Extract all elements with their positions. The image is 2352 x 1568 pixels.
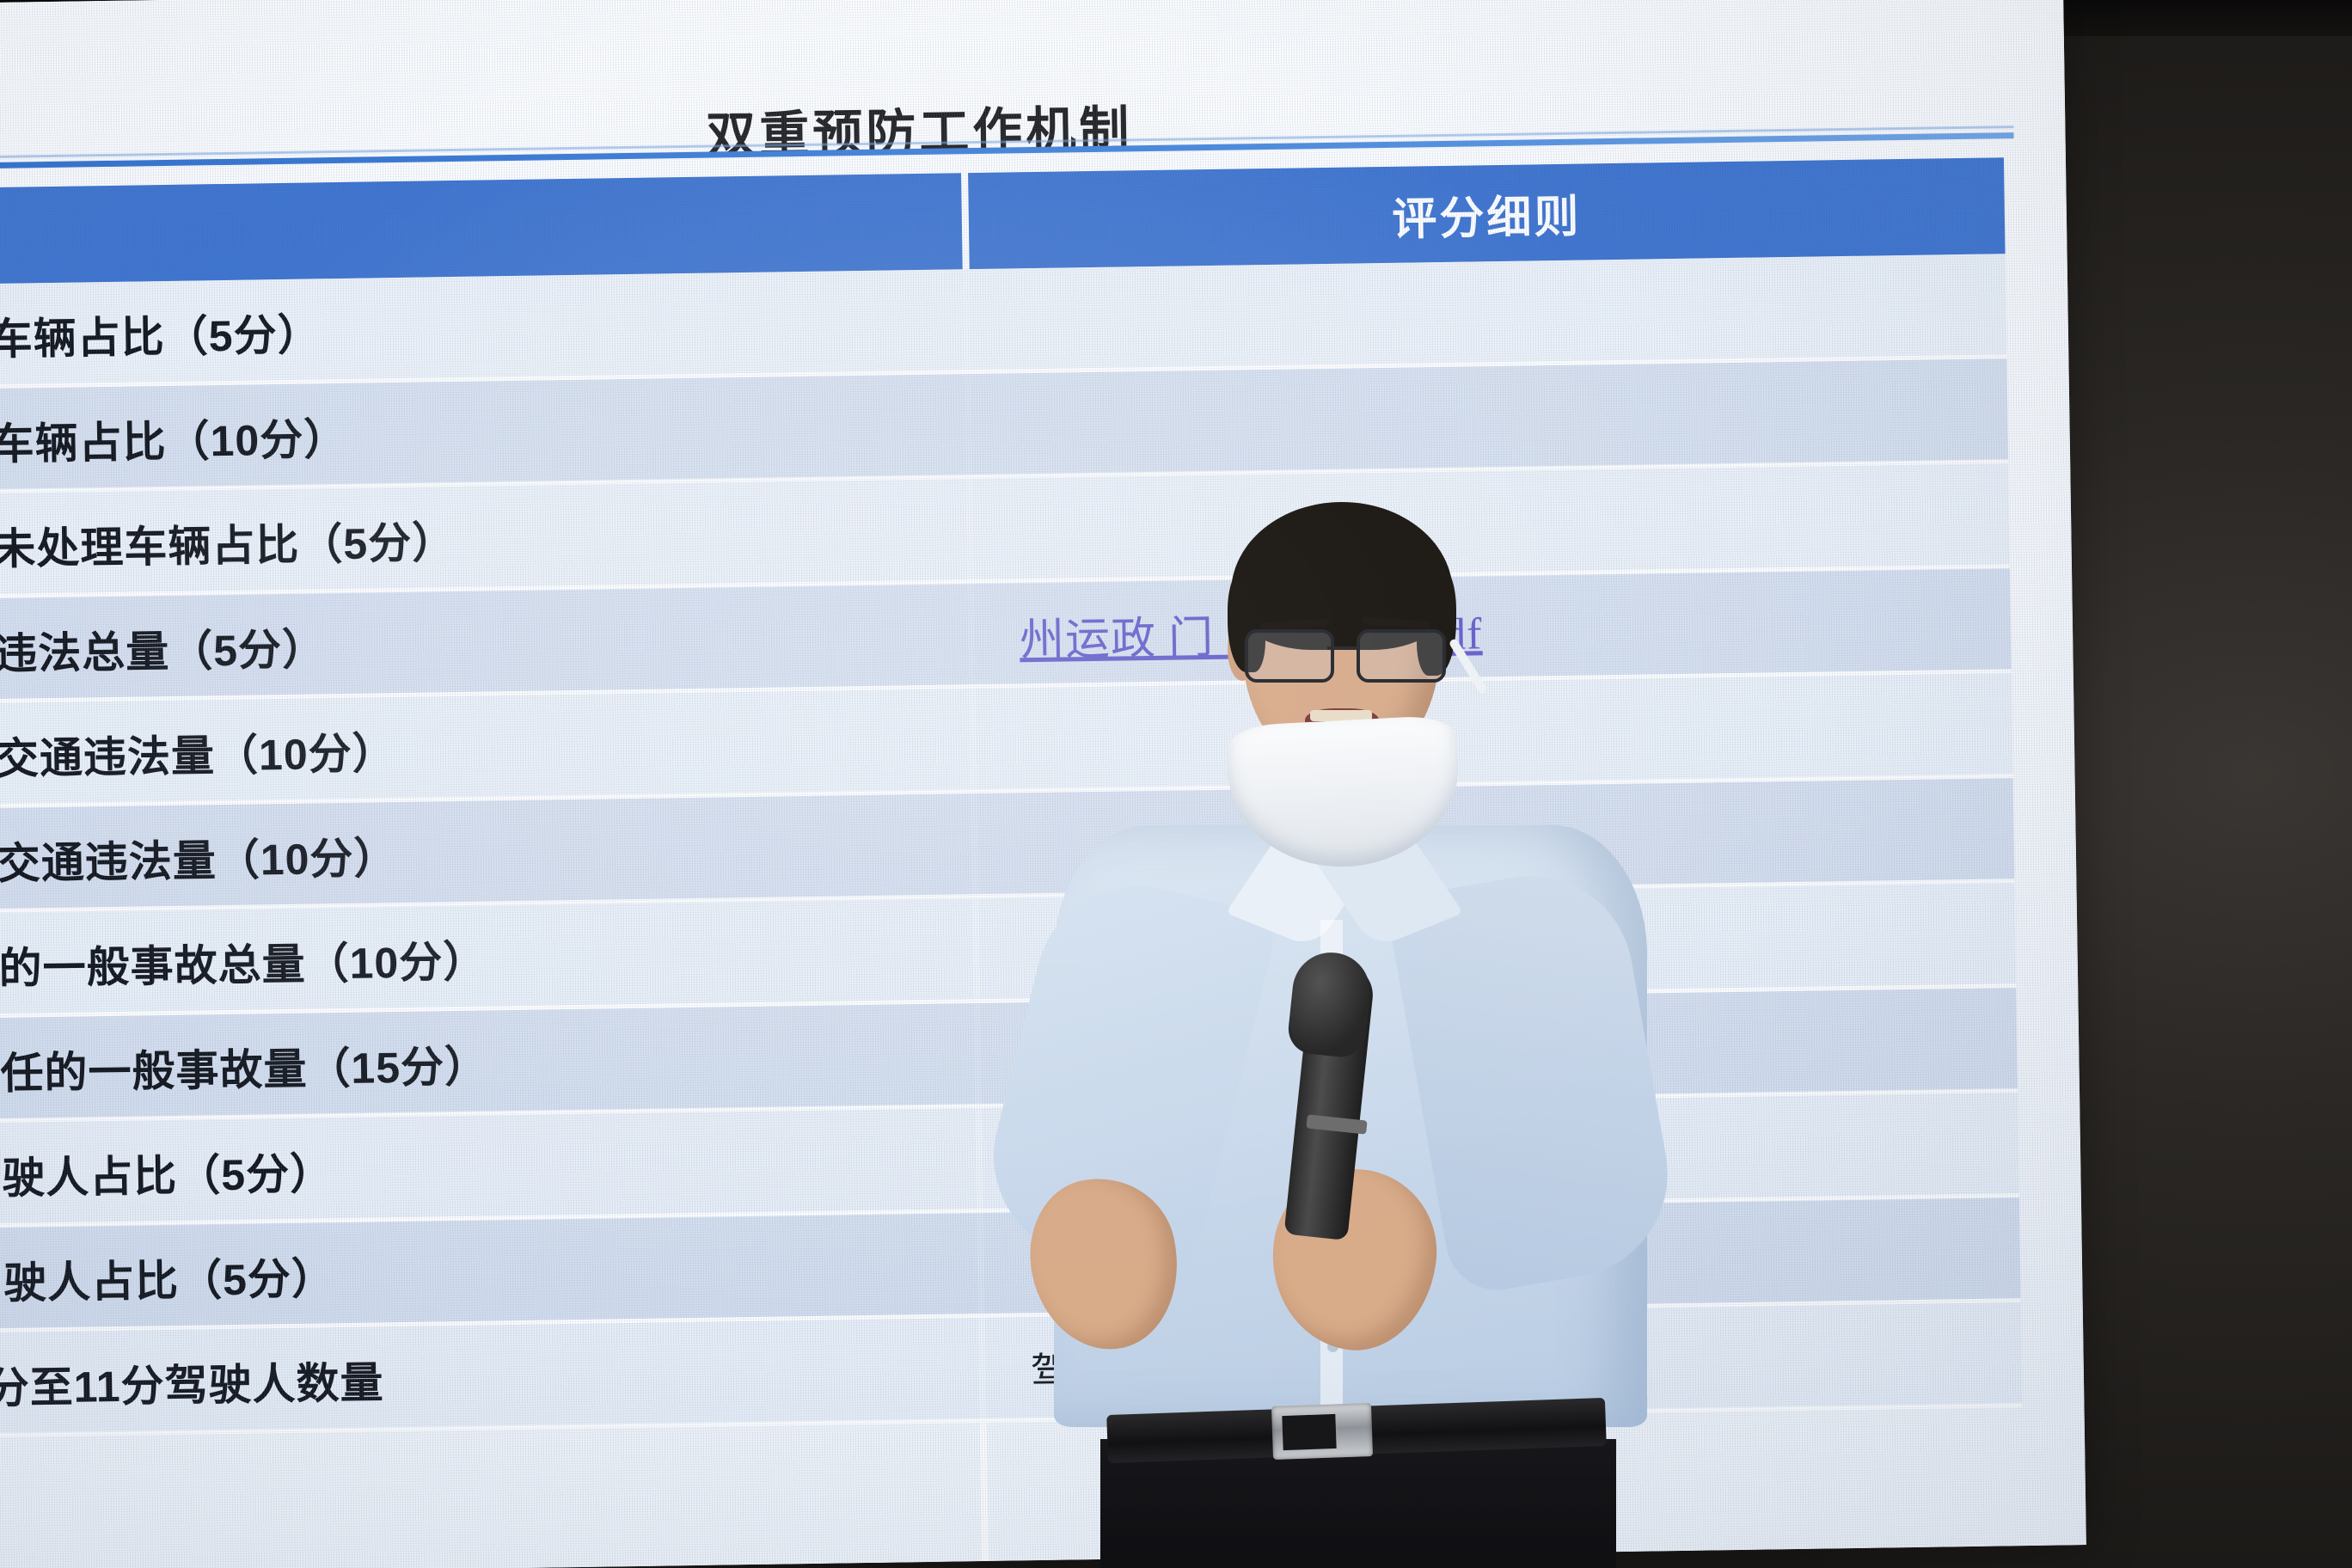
face-mask-strap (1449, 638, 1489, 695)
table-cell-content: 报废车辆占比（10分） (0, 395, 965, 473)
belt-buckle-inner (1282, 1414, 1336, 1450)
presenter (1014, 516, 1668, 1568)
glasses-icon (1240, 629, 1444, 677)
table-header-scoring-rules: 评分细则 (968, 157, 2006, 269)
table-cell-content: 违法未处理车辆占比（5分） (0, 500, 967, 578)
glasses-bridge (1327, 646, 1357, 650)
screenshot-root: 双重预防工作机制 内容 评分细则 检验车辆占比（5分） (0, 0, 2352, 1568)
table-cell-content: 验驾驶人占比（5分） (0, 1130, 977, 1207)
table-cell-rule (965, 411, 2007, 426)
table-body: 检验车辆占比（5分） 报废车辆占比（10分） 违法未处理车辆占比（5分） 交通违… (0, 254, 2024, 1568)
table-header-content: 内容 (0, 173, 963, 285)
table-cell-content: 交通违法总量（5分） (0, 605, 969, 683)
table-cell-content: 责任的一般事故总量（10分） (0, 920, 973, 997)
table-cell-content: 分9分至11分驾驶人数量 (0, 1339, 979, 1417)
table-cell-content: 有责任的一般事故量（15分） (0, 1025, 975, 1102)
table-cell-rule (964, 306, 2006, 322)
table-cell-content: 年均交通违法量（10分） (0, 710, 970, 787)
table-cell-content: 证驾驶人占比（5分） (0, 1234, 977, 1312)
table-cell-content: 检验车辆占比（5分） (0, 291, 964, 368)
glasses-lens-right (1357, 629, 1446, 683)
table-header-scoring-rules-label: 评分细则 (1392, 180, 1582, 247)
glasses-lens-left (1245, 629, 1334, 683)
table-cell-content: 重点交通违法量（10分） (0, 815, 971, 892)
scoring-table: 内容 评分细则 检验车辆占比（5分） 报废车辆占比（10分） (0, 157, 2024, 1568)
